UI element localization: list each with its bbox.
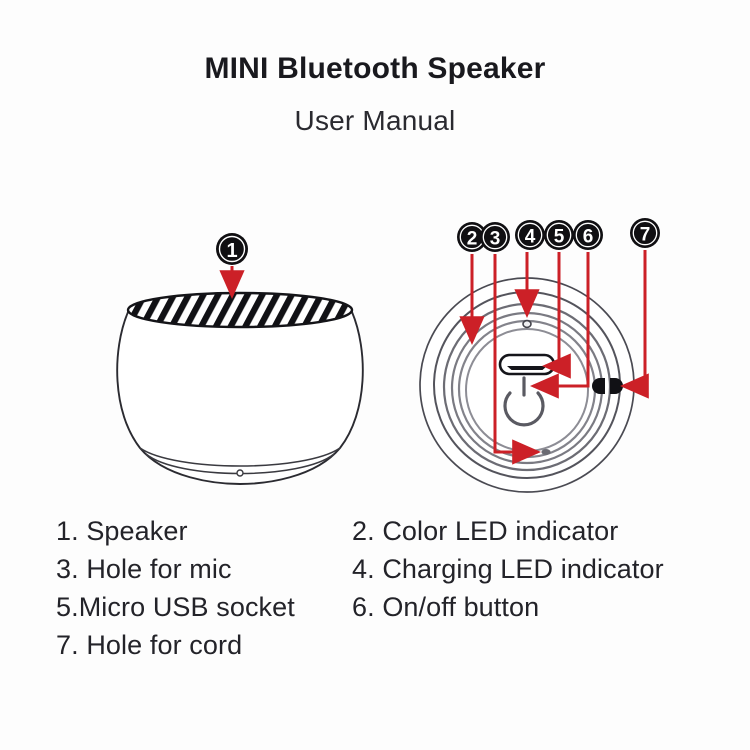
parts-legend: 1. Speaker 2. Color LED indicator 3. Hol… bbox=[56, 516, 736, 668]
callout-badge-5: 5 bbox=[544, 220, 574, 250]
speaker-bottom-view: 2 3 4 5 bbox=[420, 218, 660, 492]
callout-badge-1-label: 1 bbox=[226, 240, 237, 262]
callout-badge-6: 6 bbox=[573, 220, 603, 250]
legend-item-5: 5.Micro USB socket bbox=[56, 592, 352, 623]
callout-badge-4-label: 4 bbox=[525, 227, 536, 248]
page-subtitle: User Manual bbox=[0, 105, 750, 137]
callout-badge-6-label: 6 bbox=[583, 227, 594, 248]
callout-badge-7-label: 7 bbox=[640, 225, 651, 246]
callout-badge-3: 3 bbox=[480, 222, 510, 252]
legend-row: 3. Hole for mic 4. Charging LED indicato… bbox=[56, 554, 736, 592]
speaker-front-view: 1 bbox=[117, 233, 363, 484]
legend-item-4: 4. Charging LED indicator bbox=[352, 554, 732, 585]
legend-row: 7. Hole for cord bbox=[56, 630, 736, 668]
title-block: MINI Bluetooth Speaker User Manual bbox=[0, 52, 750, 137]
callout-badge-5-label: 5 bbox=[554, 227, 565, 248]
page-title: MINI Bluetooth Speaker bbox=[0, 52, 750, 87]
callout-badge-4: 4 bbox=[515, 220, 545, 250]
callout-badge-7: 7 bbox=[630, 218, 660, 248]
callout-badge-3-label: 3 bbox=[490, 229, 501, 250]
legend-item-1: 1. Speaker bbox=[56, 516, 352, 547]
legend-item-7: 7. Hole for cord bbox=[56, 630, 352, 661]
legend-row: 1. Speaker 2. Color LED indicator bbox=[56, 516, 736, 554]
callout-badge-2-label: 2 bbox=[467, 229, 478, 250]
legend-item-3: 3. Hole for mic bbox=[56, 554, 352, 585]
product-diagram: 1 bbox=[0, 200, 750, 510]
speaker-base-hole bbox=[237, 470, 243, 476]
callout-badge-1: 1 bbox=[216, 233, 248, 265]
charging-led-indicator bbox=[523, 321, 531, 328]
speaker-body bbox=[117, 312, 363, 484]
legend-item-2: 2. Color LED indicator bbox=[352, 516, 732, 547]
manual-page: MINI Bluetooth Speaker User Manual bbox=[0, 0, 750, 750]
hole-for-mic bbox=[541, 449, 550, 455]
legend-item-6: 6. On/off button bbox=[352, 592, 732, 623]
legend-row: 5.Micro USB socket 6. On/off button bbox=[56, 592, 736, 630]
